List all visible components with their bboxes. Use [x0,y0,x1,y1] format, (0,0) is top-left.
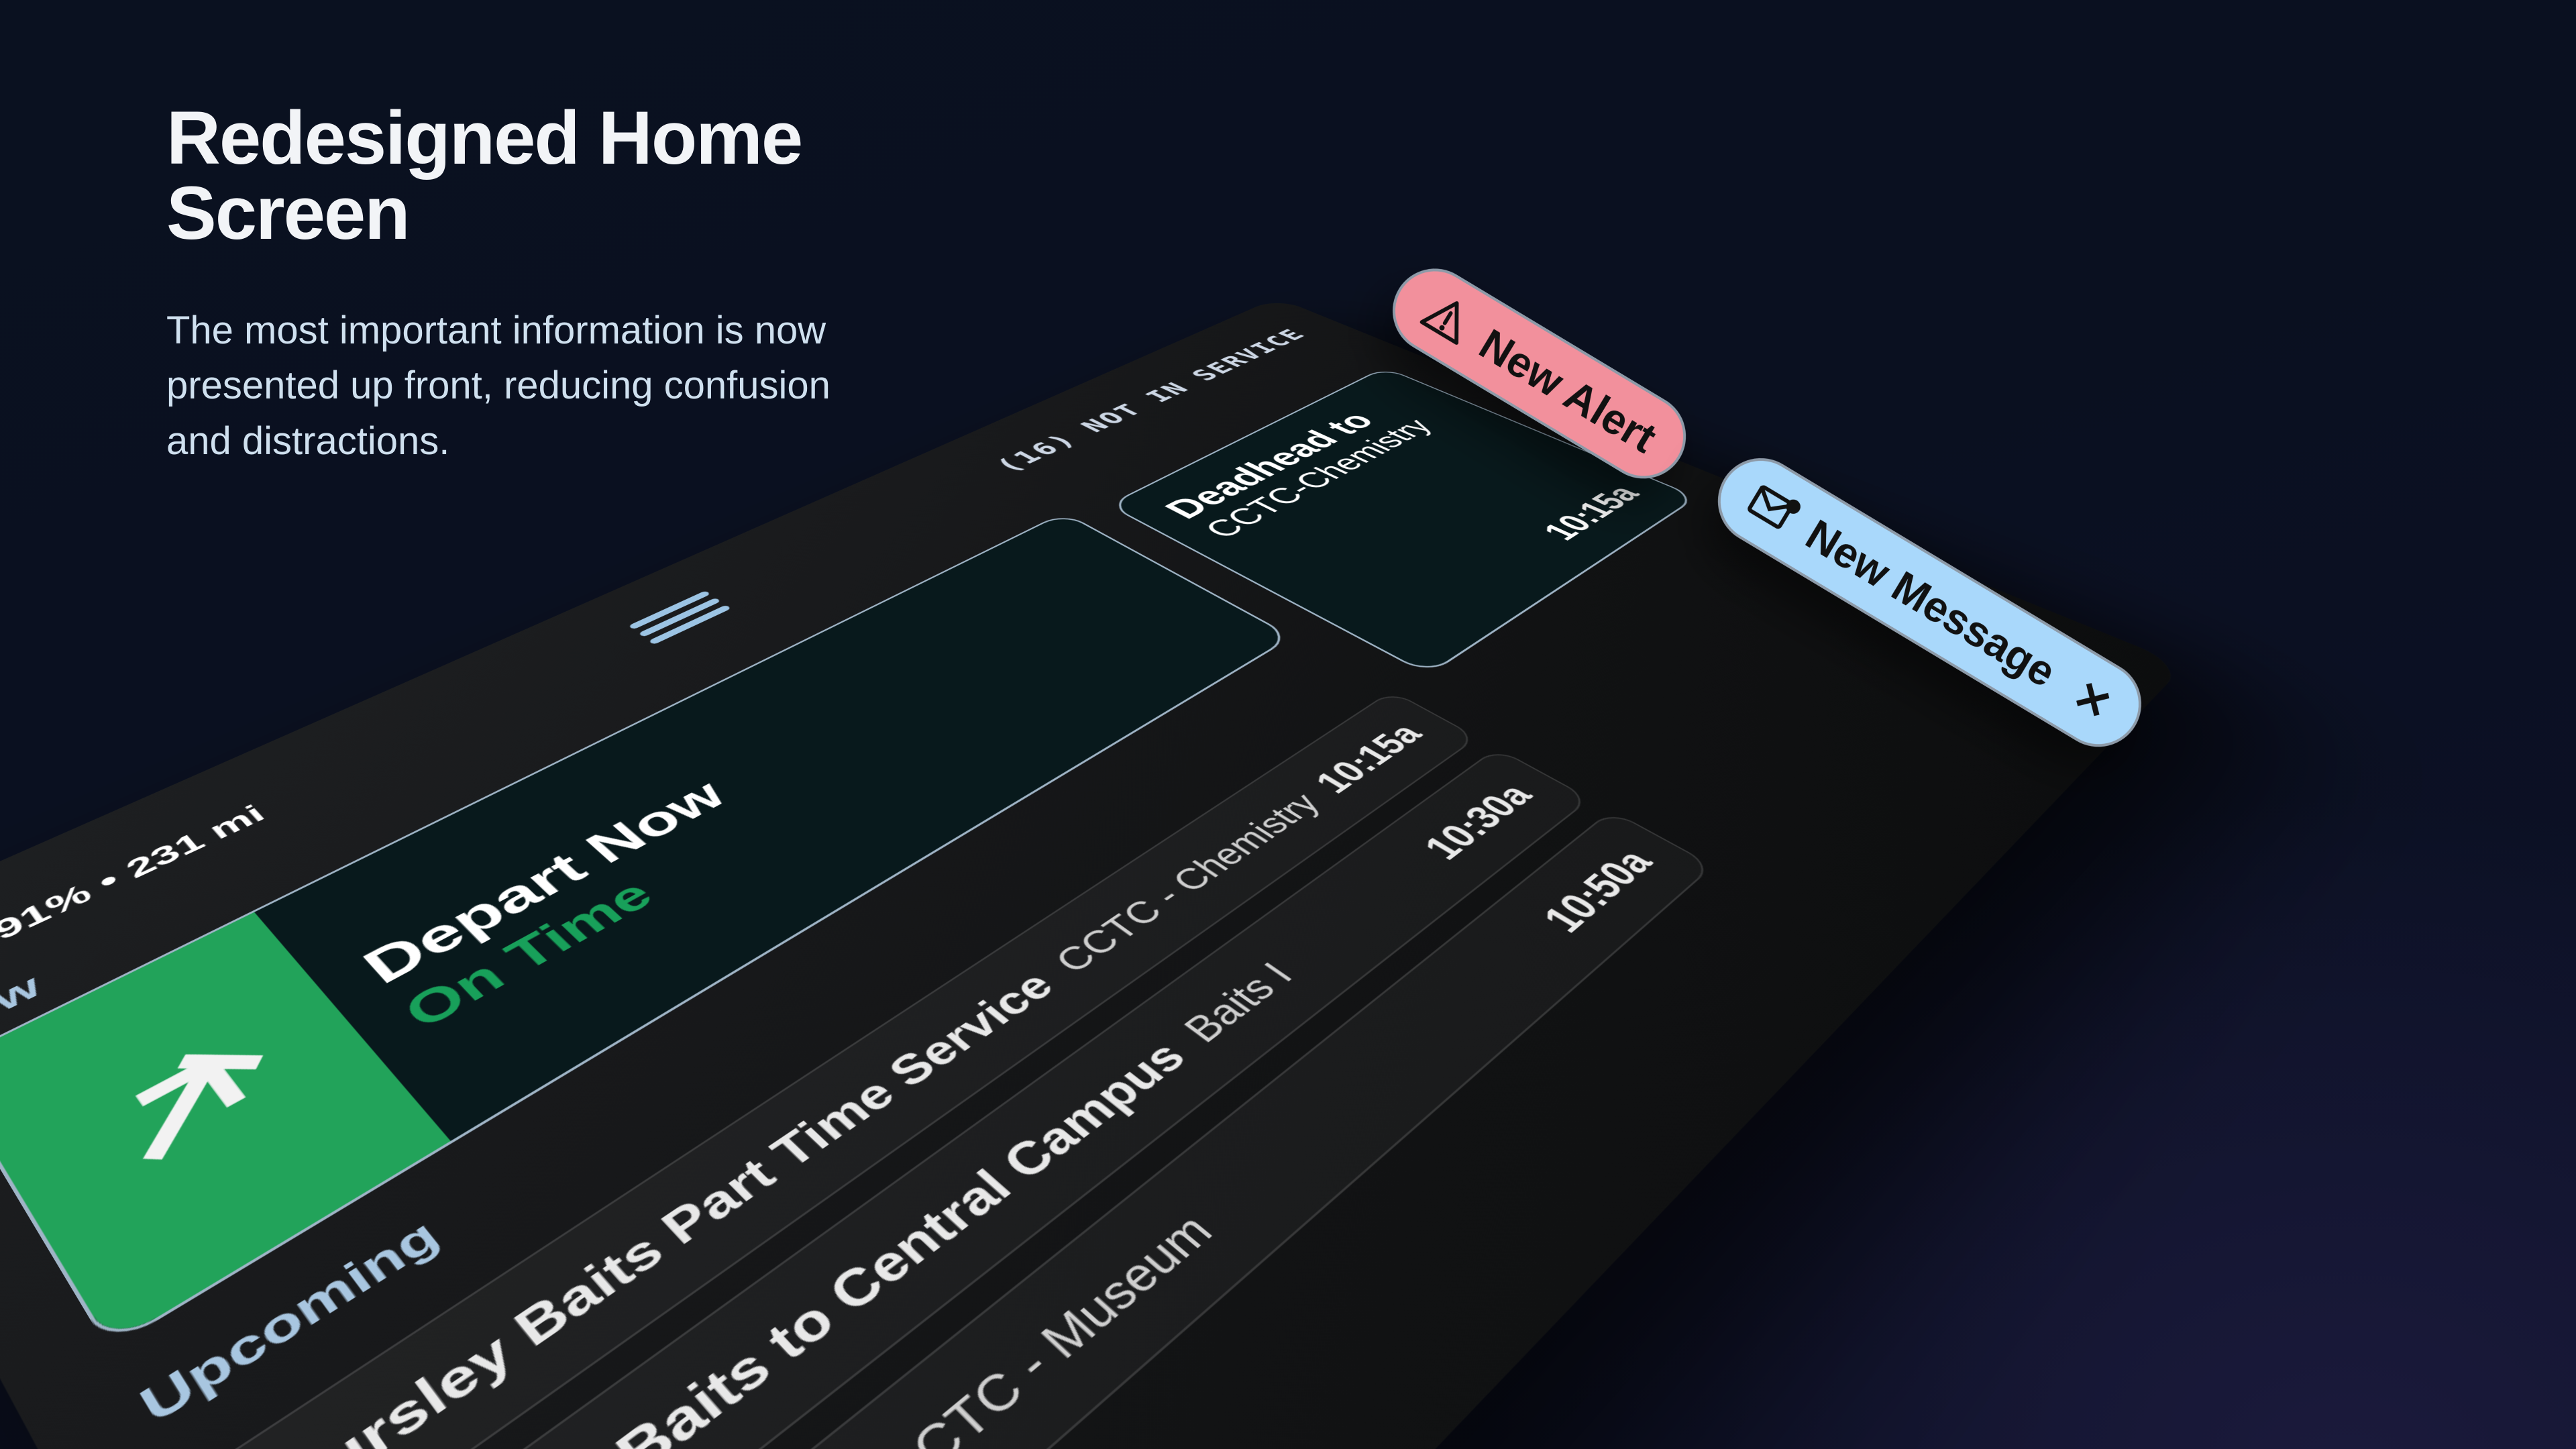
arrow-depart-icon [69,1012,313,1203]
trip-time: 10:50a [1532,843,1664,941]
warning-triangle-icon [1413,284,1482,353]
screenshot-canvas: Redesigned Home Screen The most importan… [0,0,2576,1449]
page-description: The most important information is now pr… [166,303,877,469]
envelope-dot-icon [1739,474,1809,543]
trip-time: 10:15a [1305,718,1432,800]
trip-stop: Baits I [1173,955,1303,1051]
device-home-screen: 91% • 231 mi (16) NOT IN SERVICE Now [0,298,2185,1449]
deadhead-time: 10:15a [1534,480,1649,545]
trip-time: 10:30a [1413,777,1542,867]
close-icon[interactable]: ✕ [2064,669,2121,731]
hamburger-icon[interactable] [628,590,731,645]
page-title: Redesigned Home Screen [166,101,971,251]
intro-copy-block: Redesigned Home Screen The most importan… [166,101,971,469]
